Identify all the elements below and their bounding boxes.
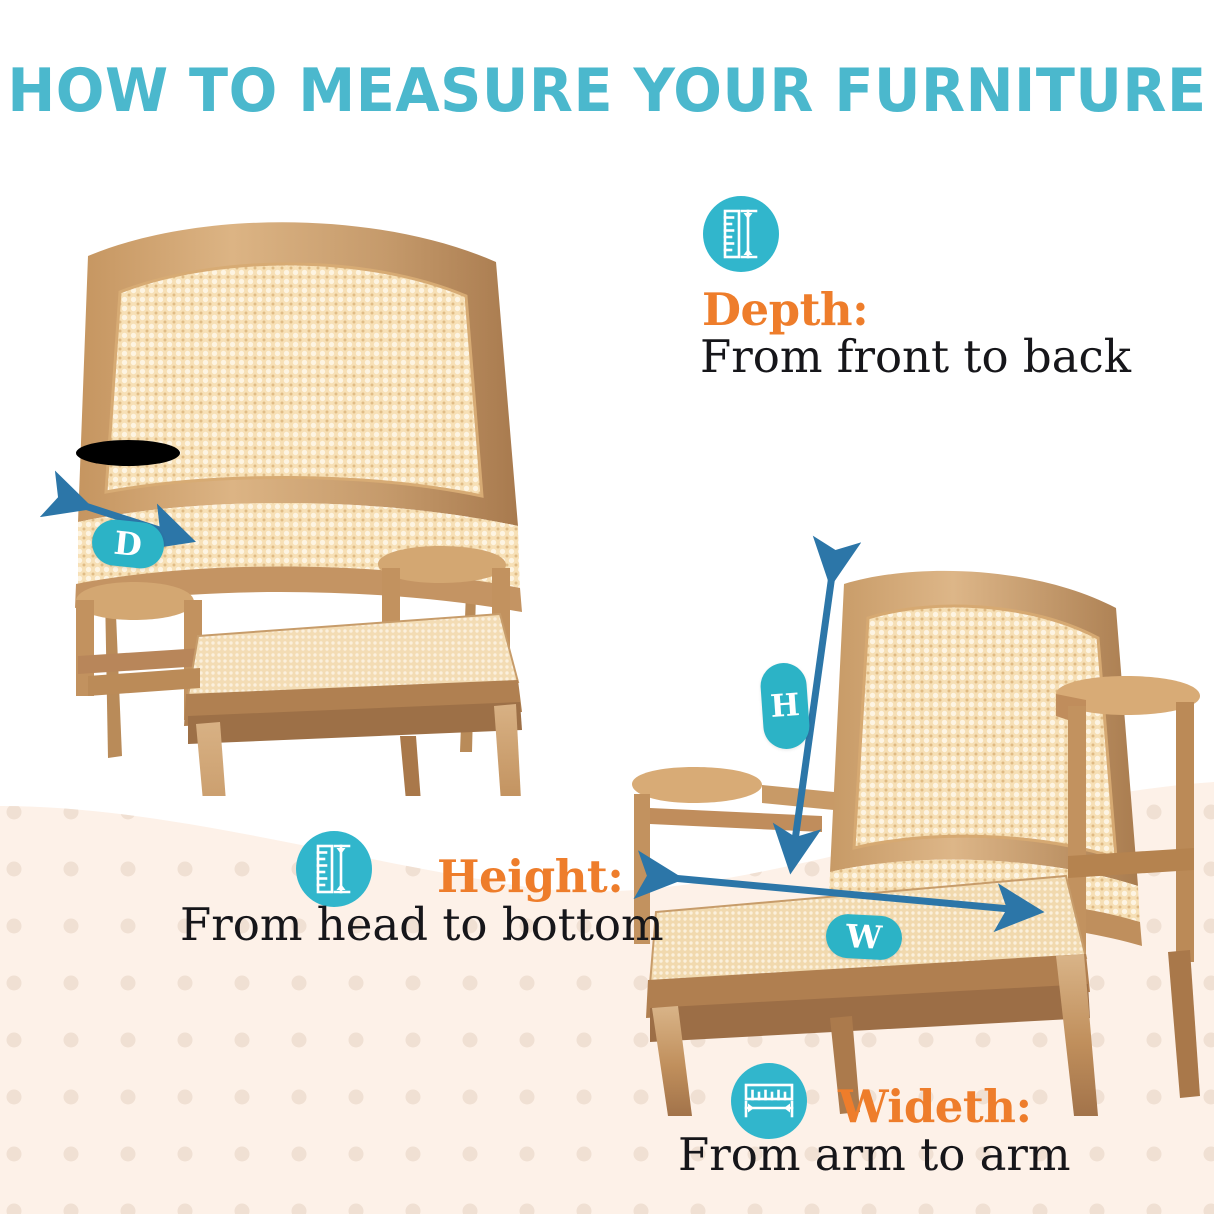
depth-heading: Depth: <box>702 283 868 336</box>
width-badge-label: W <box>845 917 883 957</box>
depth-badge-label: D <box>112 524 144 565</box>
height-description: From head to bottom <box>180 898 664 951</box>
chair-front-image <box>48 196 568 796</box>
width-description: From arm to arm <box>678 1128 1071 1181</box>
height-ruler-vertical-icon <box>296 831 372 907</box>
infographic-canvas: HOW TO MEASURE YOUR FURNITURE <box>0 0 1214 1214</box>
height-heading: Height: <box>437 850 623 903</box>
width-heading: Wideth: <box>838 1080 1032 1133</box>
chair-angled-image <box>616 556 1214 1116</box>
height-badge-label: H <box>769 687 801 725</box>
height-badge: H <box>759 662 811 751</box>
depth-description: From front to back <box>700 330 1131 383</box>
width-badge: W <box>825 913 903 961</box>
page-title: HOW TO MEASURE YOUR FURNITURE <box>0 56 1214 126</box>
depth-ruler-vertical-icon <box>703 196 779 272</box>
